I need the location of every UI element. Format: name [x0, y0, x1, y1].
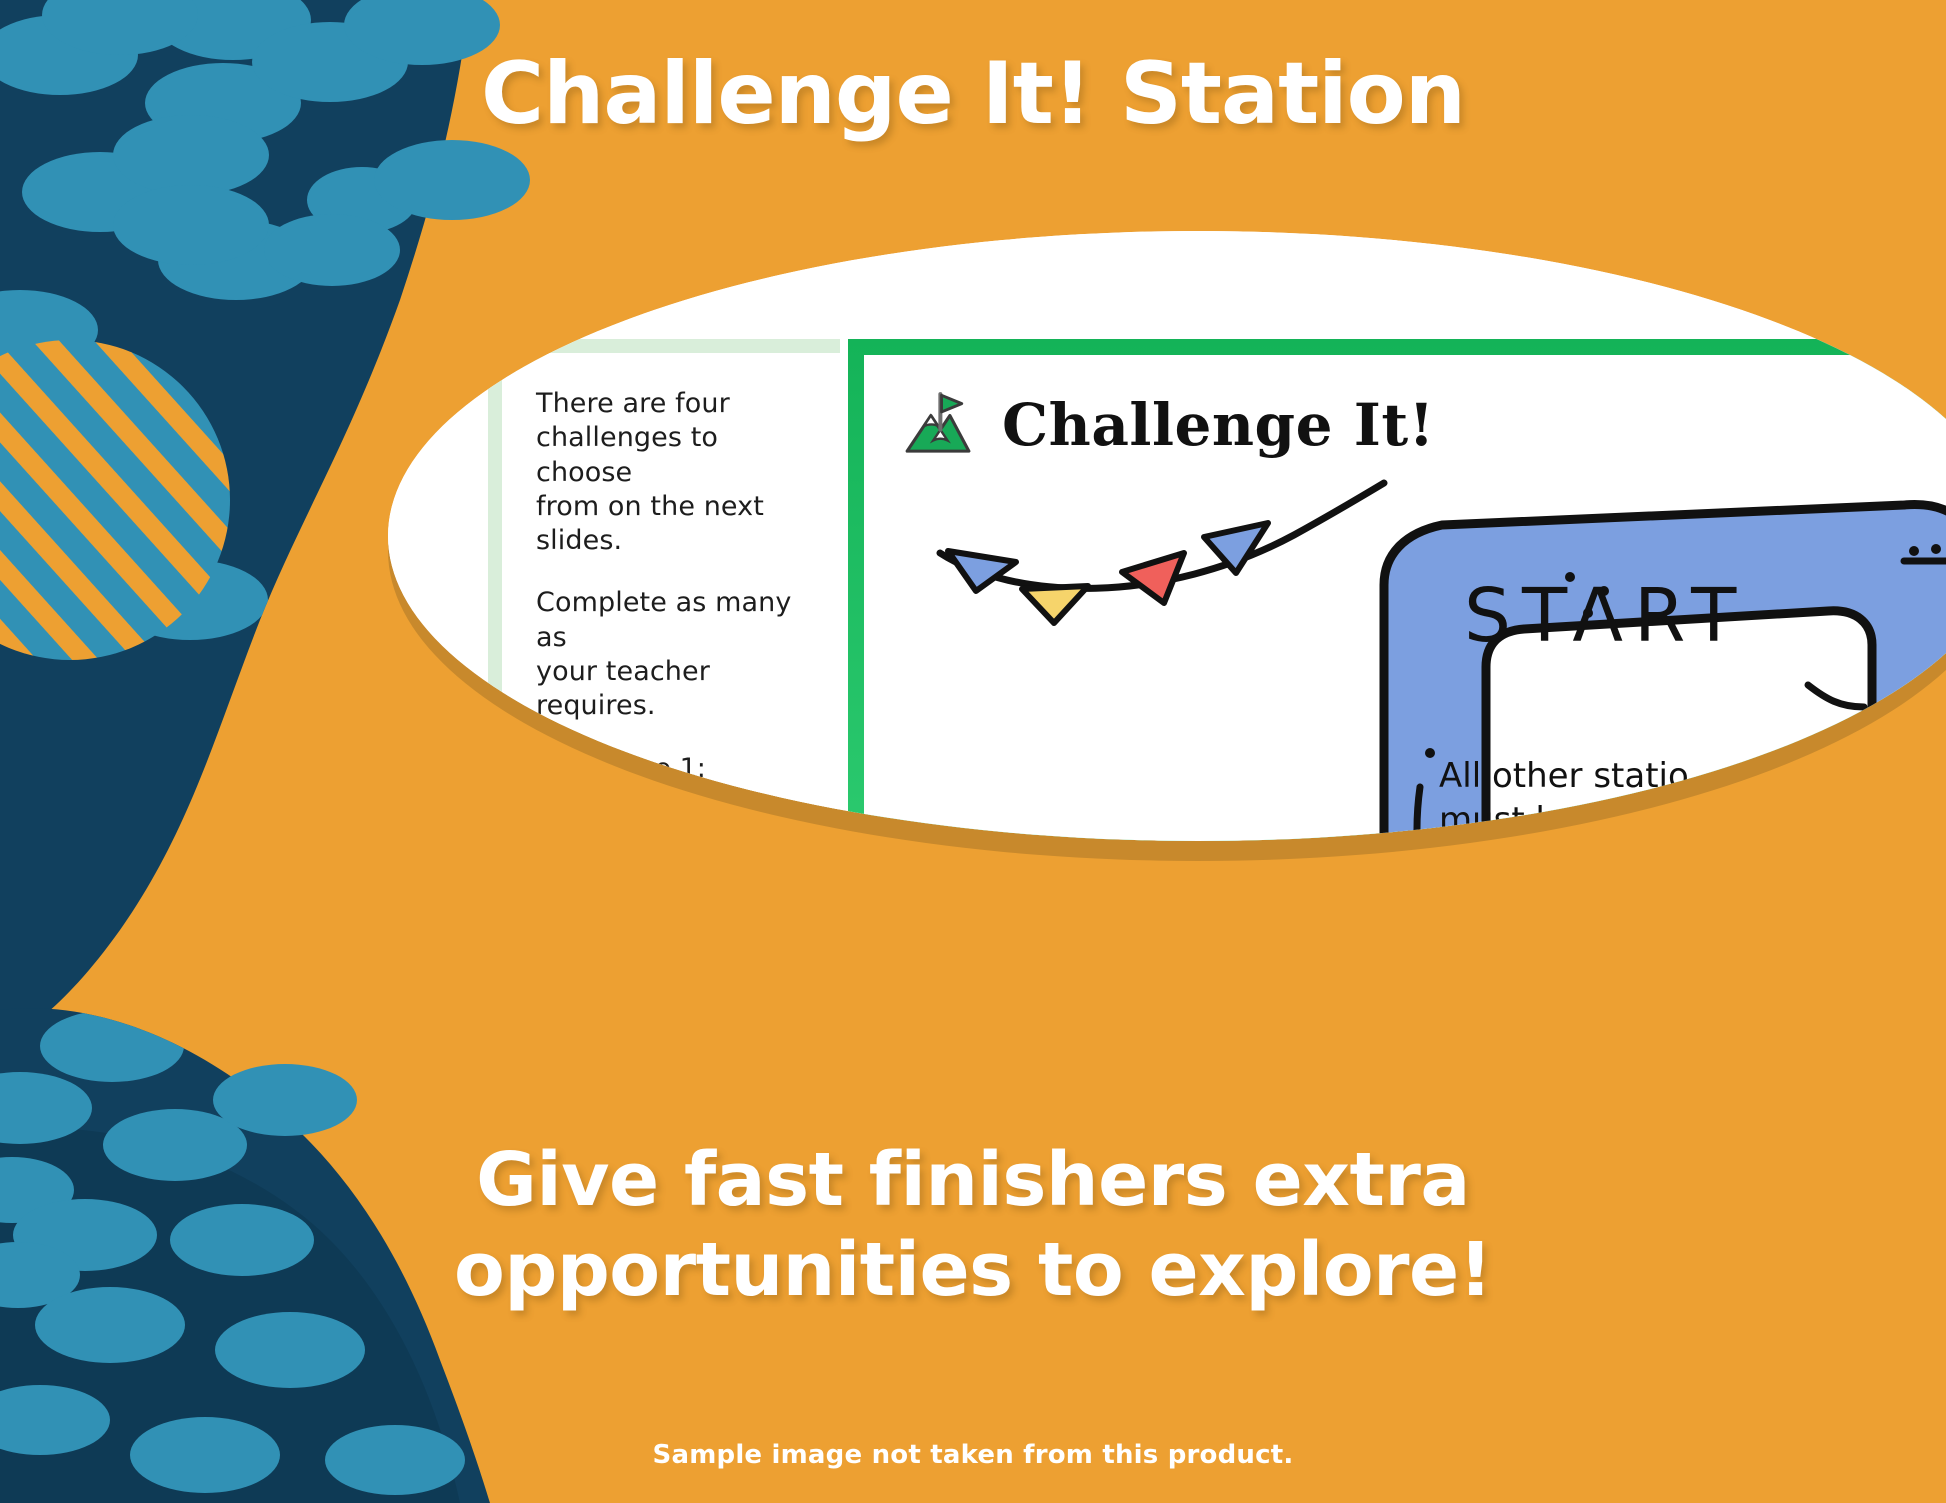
- right-slide-card: Challenge It!: [848, 339, 1946, 841]
- start-label: START: [1464, 573, 1747, 659]
- bunting-flag-yellow: [1022, 586, 1088, 623]
- teal-dot: [264, 214, 400, 286]
- poster-stage: Challenge It! Station There are four cha…: [0, 0, 1946, 1503]
- left-slide-paragraph-2: Complete as many as your teacher require…: [536, 586, 814, 723]
- left-slide-content: There are four challenges to choose from…: [502, 353, 840, 841]
- footnote-disclaimer: Sample image not taken from this product…: [0, 1440, 1946, 1470]
- page-title: Challenge It! Station: [0, 44, 1946, 144]
- start-arch-illustration: [864, 355, 1946, 841]
- teal-dot: [213, 1064, 357, 1136]
- challenge-1-title: POSTER/ ADVERTISEMENT: [536, 785, 814, 841]
- left-slide-paragraph-1: There are four challenges to choose from…: [536, 387, 814, 558]
- bunting-flag-blue-1: [948, 551, 1016, 591]
- all-other-stations-text: All other statio must b: [1439, 755, 1689, 841]
- slide-canvas: There are four challenges to choose from…: [388, 231, 1946, 841]
- bunting-flag-red: [1122, 553, 1184, 603]
- teal-dot: [374, 140, 530, 220]
- slide-preview-oval: There are four challenges to choose from…: [388, 231, 1946, 841]
- right-slide-content: Challenge It!: [864, 355, 1946, 841]
- challenge-1-label: Challenge 1:: [536, 752, 814, 786]
- tagline: Give fast finishers extra opportunities …: [0, 1135, 1946, 1316]
- left-slide-card: There are four challenges to choose from…: [488, 339, 840, 841]
